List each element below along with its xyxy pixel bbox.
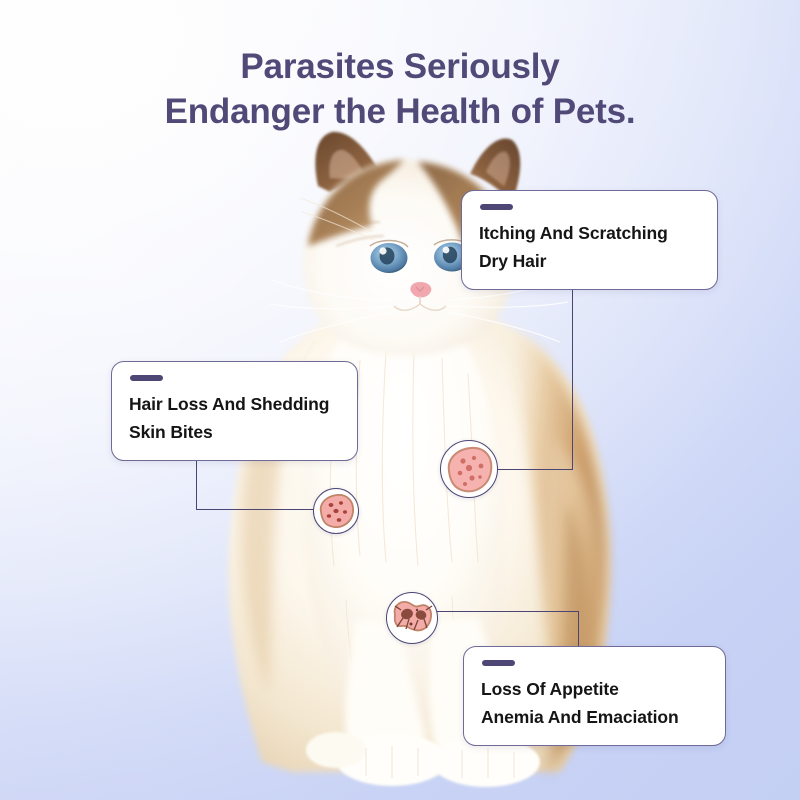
page-title-line2: Endanger the Health of Pets. (0, 90, 800, 135)
irritated-skin-icon (440, 440, 498, 498)
poster-canvas: Parasites Seriously Endanger the Health … (0, 0, 800, 800)
connector-itching-horizontal (496, 469, 573, 470)
connector-appetite-vertical (578, 611, 579, 651)
bitten-skin-icon (313, 488, 359, 534)
page-title-line1: Parasites Seriously (240, 47, 559, 86)
callout-hair-loss: Hair Loss And Shedding Skin Bites (111, 361, 358, 461)
connector-itching-vertical (572, 266, 573, 470)
callout-appetite: Loss Of Appetite Anemia And Emaciation (463, 646, 726, 746)
callout-itching-line1: Itching And Scratching (479, 219, 701, 247)
callout-hair-loss-line1: Hair Loss And Shedding (129, 390, 341, 418)
connector-hairloss-horizontal (196, 509, 314, 510)
callout-appetite-line2: Anemia And Emaciation (481, 703, 709, 731)
callout-itching-line2: Dry Hair (479, 247, 701, 275)
connector-appetite-horizontal (434, 611, 579, 612)
callout-hair-loss-line2: Skin Bites (129, 418, 341, 446)
callout-itching: Itching And Scratching Dry Hair (461, 190, 718, 290)
callout-appetite-line1: Loss Of Appetite (481, 675, 709, 703)
parasite-on-skin-icon (386, 592, 438, 644)
accent-dash-icon (482, 660, 515, 666)
accent-dash-icon (480, 204, 513, 210)
page-title: Parasites Seriously Endanger the Health … (0, 45, 800, 135)
accent-dash-icon (130, 375, 163, 381)
